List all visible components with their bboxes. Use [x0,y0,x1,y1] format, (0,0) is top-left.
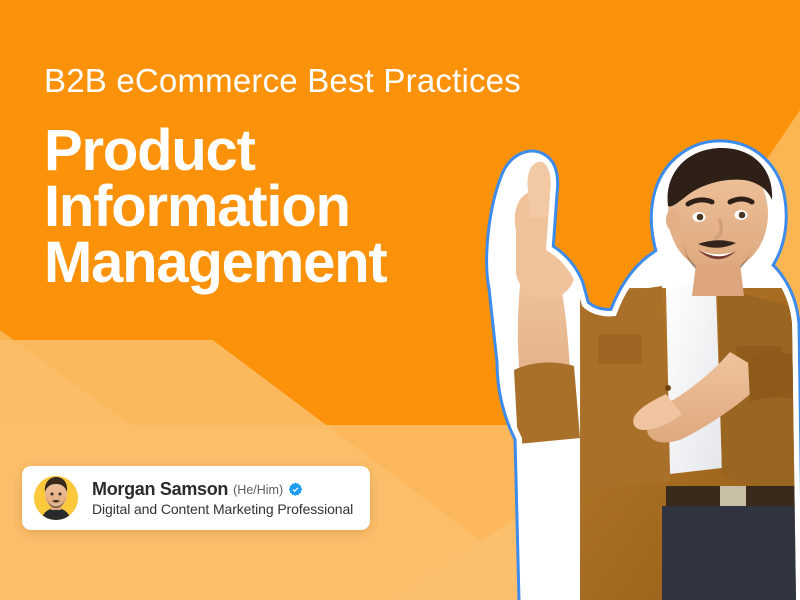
verified-check-icon [288,482,303,497]
presenter-pronouns: (He/Him) [233,483,283,497]
badge-text-block: Morgan Samson (He/Him) Digital and Conte… [92,479,353,517]
headline-line-1: Product [44,123,514,179]
presenter-badge-card: Morgan Samson (He/Him) Digital and Conte… [22,466,370,530]
index-finger [527,162,552,218]
presenter-name: Morgan Samson [92,479,228,500]
person-avatar-photo-icon [31,473,81,523]
avatar [31,473,81,523]
badge-name-line: Morgan Samson (He/Him) [92,479,353,500]
page-title: Product Information Management [44,123,514,292]
title-block: B2B eCommerce Best Practices Product Inf… [44,62,514,292]
headline-line-3: Management [44,235,514,291]
presenter-role: Digital and Content Marketing Profession… [92,501,353,517]
headline-line-2: Information [44,179,514,235]
social-graphic-canvas: B2B eCommerce Best Practices Product Inf… [0,0,800,600]
eyebrow-text: B2B eCommerce Best Practices [44,62,514,101]
